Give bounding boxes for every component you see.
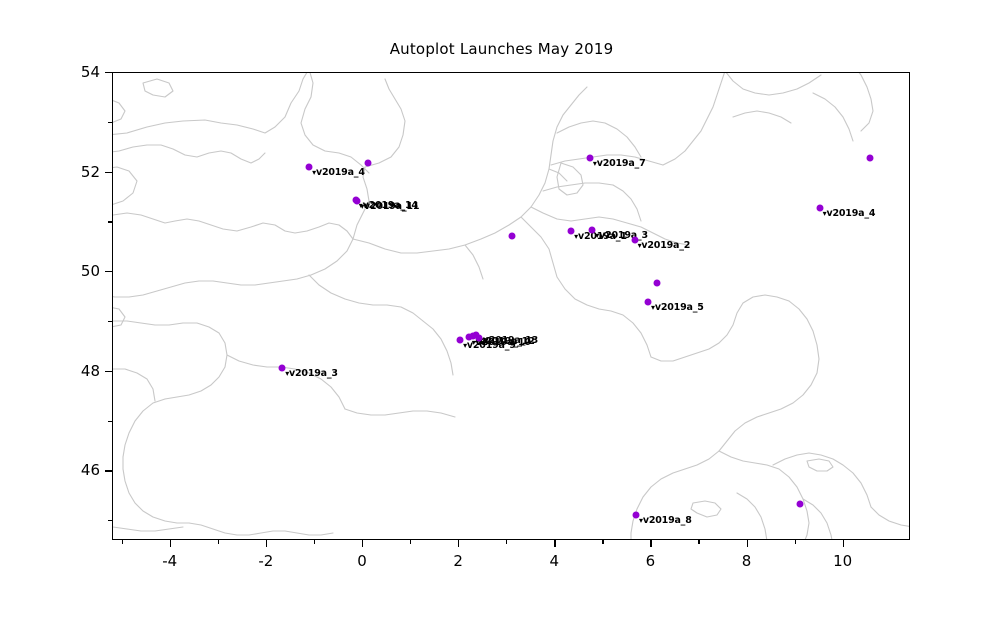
x-tick-major <box>266 540 267 547</box>
x-tick-minor <box>218 540 219 544</box>
x-tick-label: 8 <box>742 552 752 570</box>
x-tick-label: -2 <box>258 552 273 570</box>
x-tick-major <box>843 540 844 547</box>
x-tick-major <box>362 540 363 547</box>
y-tick-minor <box>108 421 112 422</box>
x-tick-minor <box>698 540 699 544</box>
x-tick-major <box>650 540 651 547</box>
y-tick-label: 54 <box>30 63 100 81</box>
y-tick-minor <box>108 221 112 222</box>
y-tick-major <box>105 371 112 372</box>
y-tick-minor <box>108 321 112 322</box>
data-point-label: ▾v2019a_7 <box>593 158 646 169</box>
x-tick-minor <box>410 540 411 544</box>
data-point[interactable] <box>509 233 516 240</box>
y-tick-label: 46 <box>30 461 100 479</box>
coastline-map <box>113 73 910 540</box>
data-point-label: ▾v2019a_3 <box>285 368 338 379</box>
data-point-label: ▾v2019a_3 <box>595 230 648 241</box>
data-point[interactable] <box>364 160 371 167</box>
x-tick-label: 4 <box>549 552 559 570</box>
x-tick-minor <box>506 540 507 544</box>
y-tick-label: 52 <box>30 163 100 181</box>
chart-title: Autoplot Launches May 2019 <box>0 40 1003 58</box>
data-point-label: ▾v2019a_2 <box>638 240 691 251</box>
y-tick-minor <box>108 520 112 521</box>
x-tick-label: 2 <box>453 552 463 570</box>
x-tick-major <box>170 540 171 547</box>
x-tick-label: -4 <box>162 552 177 570</box>
figure-canvas: Autoplot Launches May 2019 <box>0 0 1003 633</box>
plot-area[interactable]: ▾v2019a_4▾v2019a_14▾v2019a_11▾v2019a_7▾v… <box>112 72 910 540</box>
data-point-label: ▾v2019a_11 <box>360 201 419 212</box>
data-point[interactable] <box>654 280 661 287</box>
x-tick-label: 0 <box>357 552 367 570</box>
x-tick-minor <box>314 540 315 544</box>
x-tick-minor <box>122 540 123 544</box>
data-point[interactable] <box>867 154 874 161</box>
x-tick-major <box>458 540 459 547</box>
y-tick-major <box>105 271 112 272</box>
y-tick-major <box>105 470 112 471</box>
data-point[interactable] <box>797 500 804 507</box>
y-tick-label: 48 <box>30 362 100 380</box>
y-tick-major <box>105 72 112 73</box>
x-tick-minor <box>795 540 796 544</box>
data-point-label: ▾v2019a_8 <box>639 515 692 526</box>
x-tick-major <box>747 540 748 547</box>
data-point[interactable] <box>476 334 483 341</box>
data-point-label: ▾v2019a_4 <box>312 167 365 178</box>
x-tick-label: 10 <box>833 552 852 570</box>
y-tick-label: 50 <box>30 262 100 280</box>
data-point-label: ▾v2019a_5 <box>651 302 704 313</box>
x-tick-major <box>554 540 555 547</box>
x-tick-label: 6 <box>646 552 656 570</box>
data-point-label: ▾v2019a_4 <box>823 208 876 219</box>
y-tick-minor <box>108 122 112 123</box>
y-tick-major <box>105 172 112 173</box>
data-point-label: ▾v2019a_9 <box>463 340 516 351</box>
x-tick-minor <box>602 540 603 544</box>
